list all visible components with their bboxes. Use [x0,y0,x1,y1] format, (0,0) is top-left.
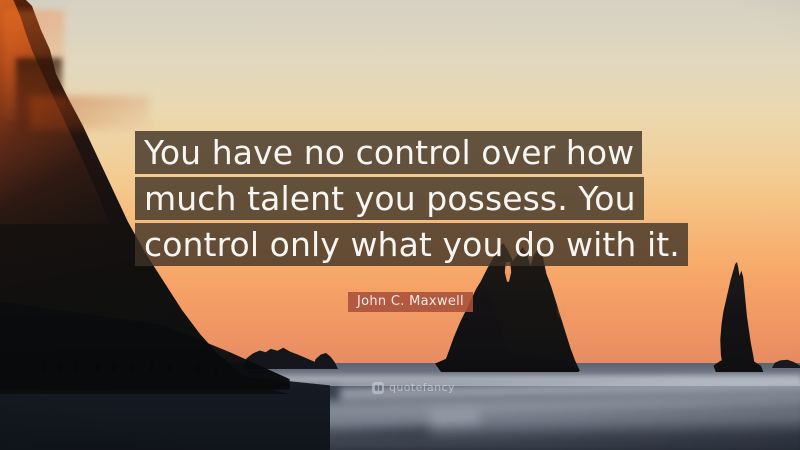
person-silhouette [96,363,99,371]
person-silhouette [42,362,45,370]
person-silhouette [112,362,116,371]
person-silhouette [150,362,153,371]
watermark[interactable]: quotefancy [372,382,455,394]
person-silhouette [196,364,199,372]
quote-line-3: control only what you do with it. [135,223,688,266]
quote-line-1: You have no control over how [135,131,642,174]
quote-line-2: much talent you possess. You [135,177,644,220]
person-silhouette [168,365,171,372]
quote-poster: You have no control over how much talent… [0,0,800,450]
person-silhouette [58,363,61,370]
quote-text-block: You have no control over how much talent… [135,131,688,266]
quote-mark-icon [372,382,384,394]
person-silhouette [214,366,217,373]
author-attribution: John C. Maxwell [348,292,473,312]
watermark-brand: quotefancy [389,382,455,394]
person-silhouette [75,361,78,370]
person-silhouette [131,364,134,371]
